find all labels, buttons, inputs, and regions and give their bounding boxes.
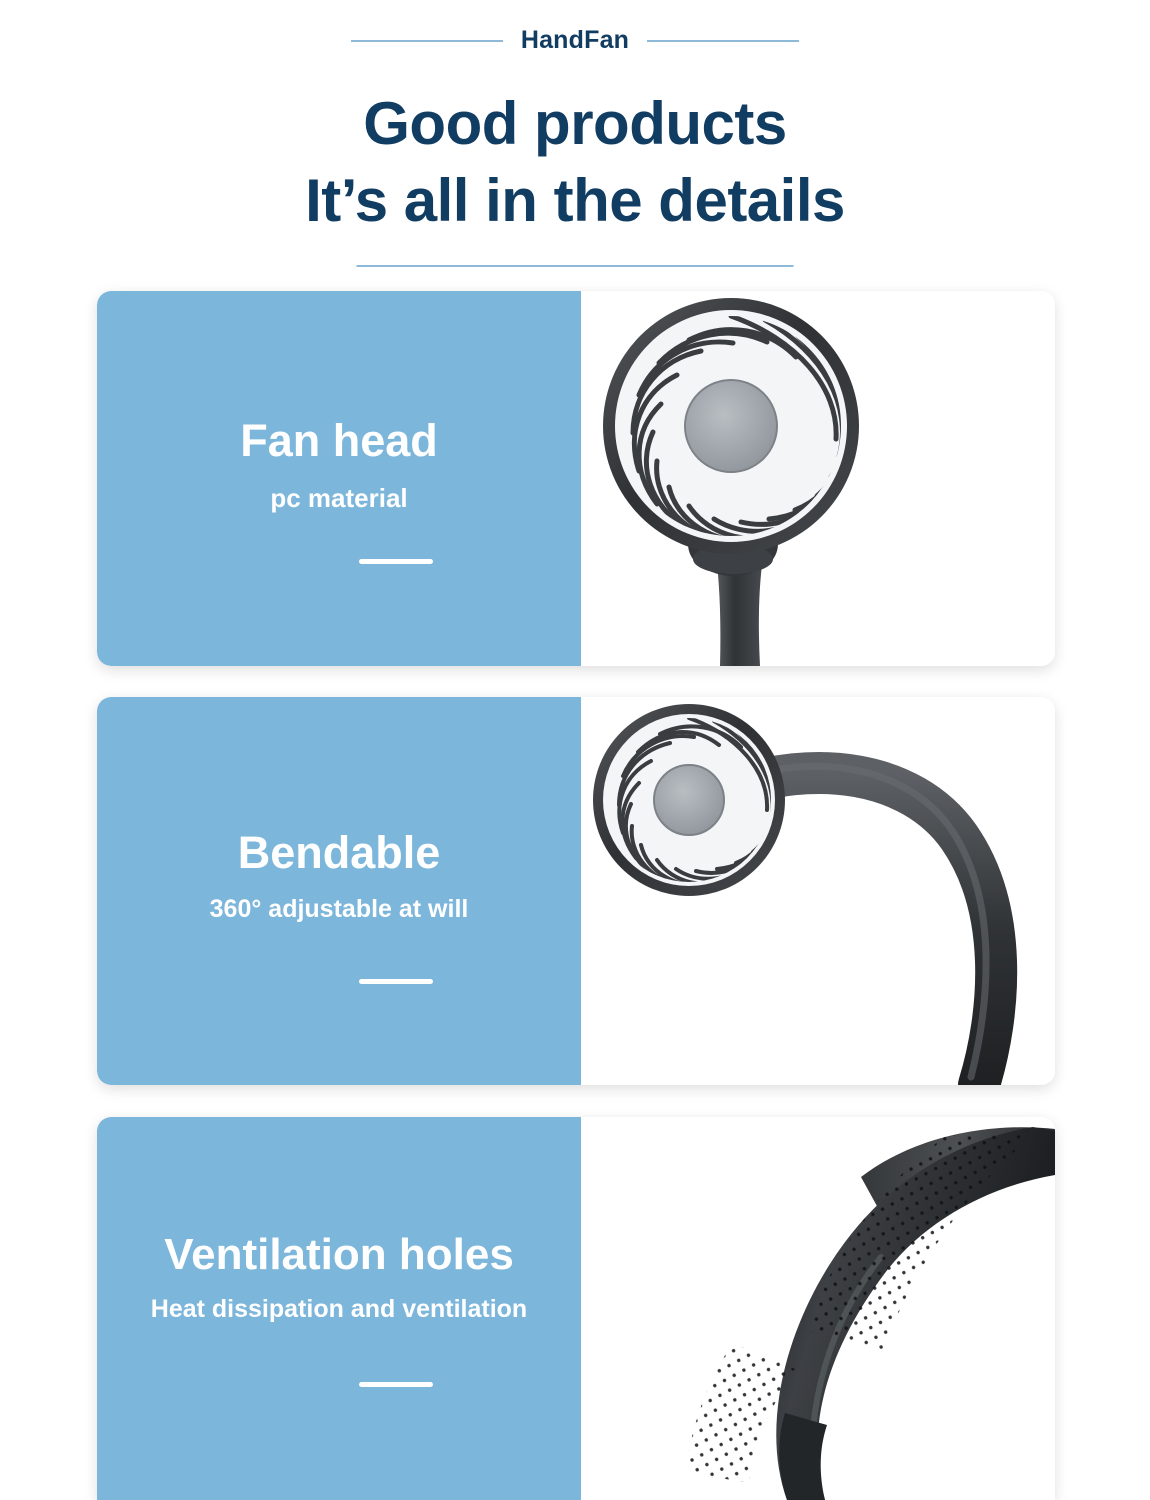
feature-image-fan-head bbox=[581, 291, 1055, 666]
page-title: Good products It’s all in the details bbox=[0, 86, 1150, 240]
brand-rule-right bbox=[647, 40, 799, 42]
feature-title: Fan head bbox=[97, 418, 581, 463]
feature-card-text-panel: Ventilation holes Heat dissipation and v… bbox=[97, 1117, 581, 1500]
brand-row: HandFan bbox=[0, 26, 1150, 55]
ventilation-holes-illustration bbox=[581, 1117, 1055, 1500]
feature-subtitle: 360° adjustable at will bbox=[97, 897, 581, 922]
brand-name: HandFan bbox=[521, 26, 629, 55]
brand-rule-left bbox=[351, 40, 503, 42]
feature-accent-dash bbox=[359, 559, 433, 564]
feature-card-ventilation-holes: Ventilation holes Heat dissipation and v… bbox=[97, 1117, 1055, 1500]
feature-subtitle: Heat dissipation and ventilation bbox=[97, 1297, 581, 1322]
feature-accent-dash bbox=[359, 979, 433, 984]
headline-line-1: Good products bbox=[363, 90, 786, 157]
feature-title: Bendable bbox=[97, 830, 581, 875]
feature-card-bendable: Bendable 360° adjustable at will bbox=[97, 697, 1055, 1085]
feature-image-ventilation-holes bbox=[581, 1117, 1055, 1500]
feature-subtitle: pc material bbox=[97, 485, 581, 511]
feature-title: Ventilation holes bbox=[97, 1233, 581, 1277]
feature-image-bendable bbox=[581, 697, 1055, 1085]
header-divider bbox=[357, 265, 794, 267]
feature-accent-dash bbox=[359, 1382, 433, 1387]
bendable-neckband-illustration bbox=[581, 697, 1055, 1085]
feature-card-text-panel: Fan head pc material bbox=[97, 291, 581, 666]
page-header: HandFan Good products It’s all in the de… bbox=[0, 0, 1150, 285]
feature-card-fan-head: Fan head pc material bbox=[97, 291, 1055, 666]
headline-line-2: It’s all in the details bbox=[0, 163, 1150, 240]
feature-card-text-panel: Bendable 360° adjustable at will bbox=[97, 697, 581, 1085]
fan-head-illustration bbox=[581, 291, 1055, 666]
